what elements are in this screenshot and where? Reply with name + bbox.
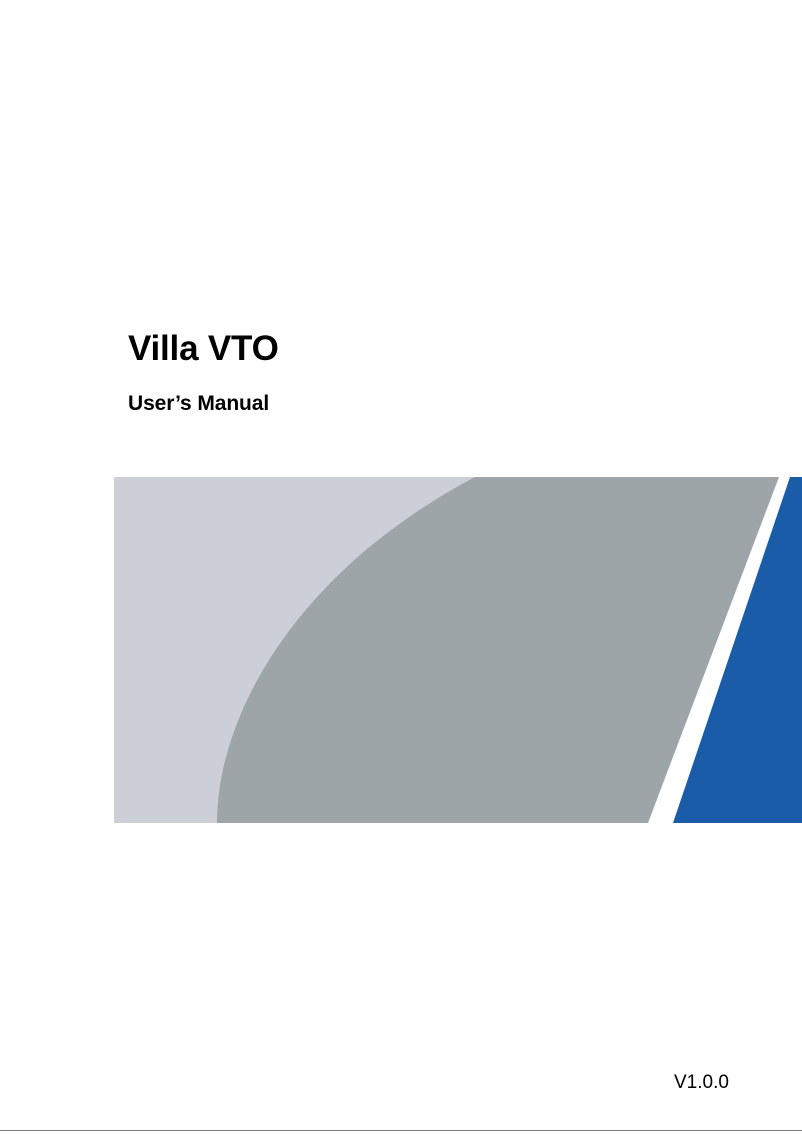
page-title: Villa VTO [128, 328, 688, 370]
version-label: V1.0.0 [674, 1071, 729, 1095]
title-block: Villa VTO User’s Manual [128, 328, 688, 417]
cover-decorative-graphic [114, 477, 802, 823]
footer-divider [0, 1130, 802, 1131]
page-subtitle: User’s Manual [128, 370, 688, 417]
cover-graphic-svg [114, 477, 802, 823]
cover-page: Villa VTO User’s Manual [0, 0, 802, 1134]
